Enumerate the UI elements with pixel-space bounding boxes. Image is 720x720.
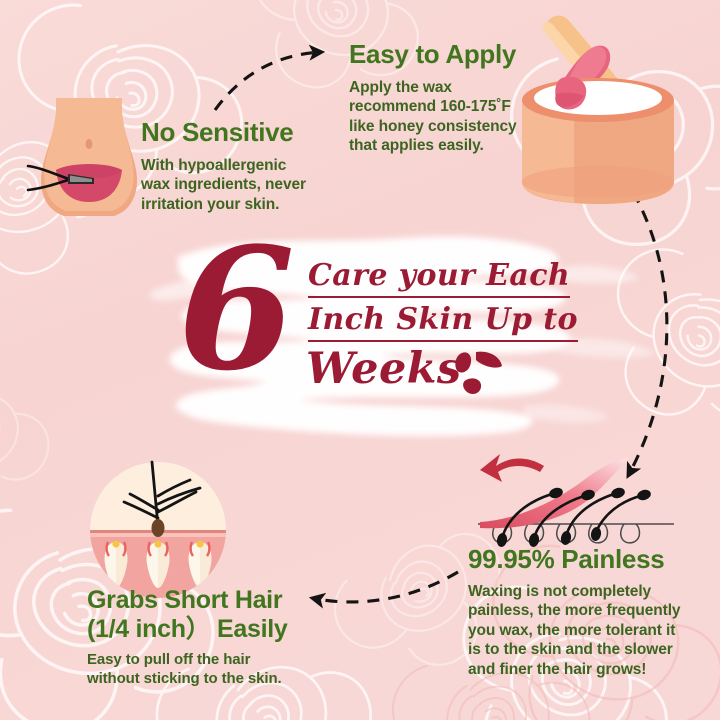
- headline-line-2-text: Inch Skin Up to: [308, 302, 578, 342]
- arrow-bottom-right-to-left: [312, 572, 458, 602]
- feature-easy-to-apply-heading: Easy to Apply: [349, 40, 559, 69]
- feature-easy-to-apply: Easy to Apply Apply the wax recommend 16…: [349, 40, 559, 156]
- headline-line-3: Weeks: [306, 344, 462, 394]
- splash-flourish-icon: [446, 344, 506, 402]
- feature-grabs-short-hair: Grabs Short Hair (1/4 inch） Easily Easy …: [87, 586, 327, 689]
- headline-line-3-text: Weeks: [306, 344, 462, 394]
- feature-painless-body: Waxing is not completely painless, the m…: [468, 582, 706, 680]
- bikini-line-tweezers-illustration: [22, 92, 154, 218]
- headline-number: 6: [178, 242, 295, 376]
- infographic-canvas: 6 Care your Each Inch Skin Up to Weeks N…: [0, 0, 720, 720]
- feature-no-sensitive-heading: No Sensitive: [141, 118, 337, 147]
- feature-no-sensitive: No Sensitive With hypoallergenic wax ing…: [141, 118, 337, 214]
- headline-line-2: Inch Skin Up to: [308, 302, 578, 342]
- headline-line-1-text: Care your Each: [308, 258, 570, 298]
- wax-strip-pull-illustration: [478, 452, 678, 548]
- feature-grabs-short-hair-body: Easy to pull off the hair without sticki…: [87, 651, 327, 689]
- feature-easy-to-apply-body: Apply the wax recommend 160-175˚F like h…: [349, 78, 559, 156]
- headline-line-1: Care your Each: [308, 258, 570, 298]
- feature-no-sensitive-body: With hypoallergenic wax ingredients, nev…: [141, 156, 337, 215]
- arrow-right-down: [628, 192, 667, 476]
- feature-grabs-short-hair-heading: Grabs Short Hair (1/4 inch） Easily: [87, 586, 327, 643]
- feature-painless: 99.95% Painless Waxing is not completely…: [468, 545, 706, 679]
- center-headline: 6 Care your Each Inch Skin Up to Weeks: [178, 236, 578, 426]
- feature-painless-heading: 99.95% Painless: [468, 545, 706, 574]
- arrow-top-left-to-right: [215, 52, 322, 110]
